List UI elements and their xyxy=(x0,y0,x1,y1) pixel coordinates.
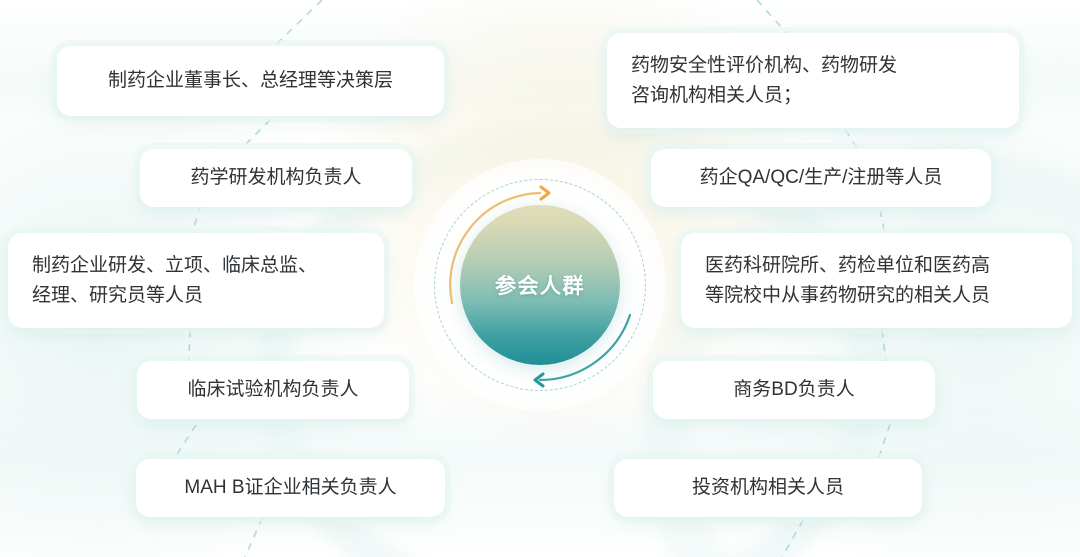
audience-card-left-4-text: 临床试验机构负责人 xyxy=(161,375,385,405)
audience-card-left-3[interactable]: 制药企业研发、立项、临床总监、 经理、研究员等人员 xyxy=(8,233,384,328)
audience-card-left-2-text: 药学研发机构负责人 xyxy=(164,163,388,193)
center-label: 参会人群 xyxy=(495,270,585,300)
audience-card-right-2-text: 药企QA/QC/生产/注册等人员 xyxy=(675,163,967,193)
audience-card-right-3[interactable]: 医药科研院所、药检单位和医药高 等院校中从事药物研究的相关人员 xyxy=(681,233,1072,328)
center-emblem: 参会人群 xyxy=(430,175,650,395)
arc-orange-arrowhead xyxy=(541,187,549,199)
audience-card-left-3-text: 制药企业研发、立项、临床总监、 经理、研究员等人员 xyxy=(32,251,360,311)
audience-card-right-4[interactable]: 商务BD负责人 xyxy=(653,361,935,419)
center-core-circle: 参会人群 xyxy=(460,205,620,365)
audience-card-left-2[interactable]: 药学研发机构负责人 xyxy=(140,149,412,207)
audience-card-right-5[interactable]: 投资机构相关人员 xyxy=(614,459,922,517)
audience-card-left-1[interactable]: 制药企业董事长、总经理等决策层 xyxy=(57,46,444,116)
audience-card-left-1-text: 制药企业董事长、总经理等决策层 xyxy=(81,66,420,96)
participants-diagram: 参会人群 制药企业董事长、总经理等决策层 药学研发机构负责人 制药企业研发、立项… xyxy=(0,0,1080,557)
audience-card-right-1[interactable]: 药物安全性评价机构、药物研发 咨询机构相关人员； xyxy=(607,33,1019,128)
connector-line-l4-l5 xyxy=(172,425,196,462)
audience-card-right-4-text: 商务BD负责人 xyxy=(677,375,911,405)
connector-line-r4-r5 xyxy=(878,424,890,460)
audience-card-right-2[interactable]: 药企QA/QC/生产/注册等人员 xyxy=(651,149,991,207)
audience-card-right-1-text: 药物安全性评价机构、药物研发 咨询机构相关人员； xyxy=(631,51,995,111)
audience-card-right-5-text: 投资机构相关人员 xyxy=(638,473,898,503)
audience-card-right-3-text: 医药科研院所、药检单位和医药高 等院校中从事药物研究的相关人员 xyxy=(705,251,1048,311)
audience-card-left-5-text: MAH B证企业相关负责人 xyxy=(160,473,421,503)
audience-card-left-5[interactable]: MAH B证企业相关负责人 xyxy=(136,459,445,517)
audience-card-left-4[interactable]: 临床试验机构负责人 xyxy=(137,361,409,419)
